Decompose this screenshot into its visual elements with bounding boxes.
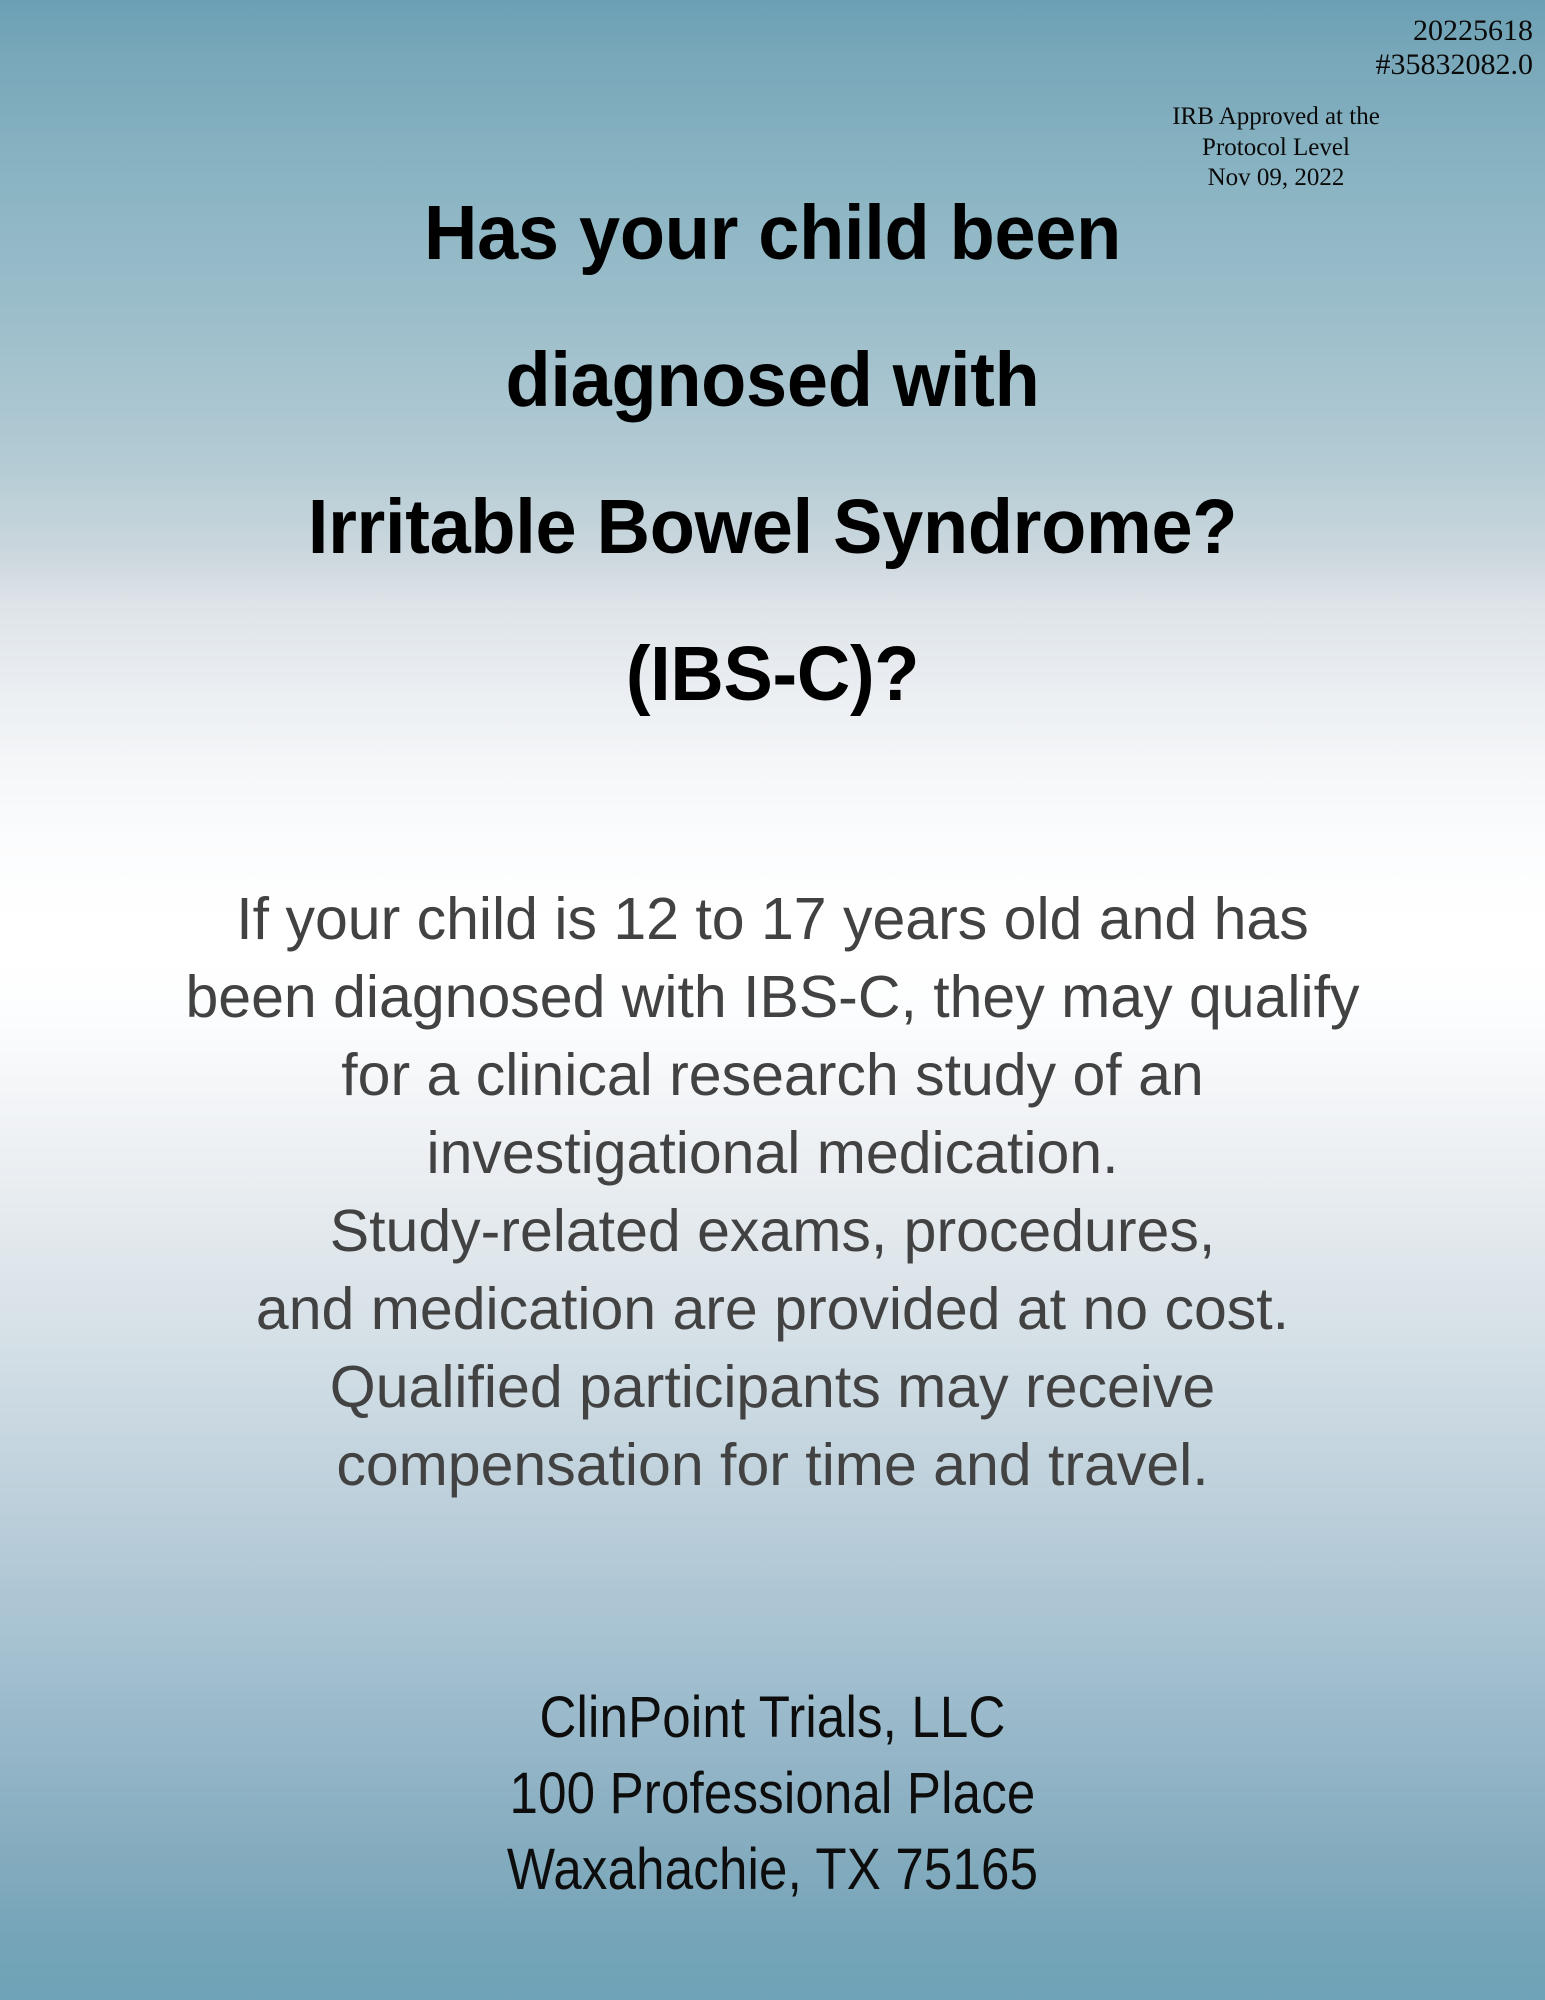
body-line-2: been diagnosed with IBS-C, they may qual… <box>0 958 1545 1036</box>
irb-approval-line-2: Protocol Level <box>1075 133 1477 164</box>
headline-line-1: Has your child been <box>31 160 1514 307</box>
body-copy: If your child is 12 to 17 years old and … <box>0 880 1545 1504</box>
headline-line-3: Irritable Bowel Syndrome? <box>31 454 1514 601</box>
headline: Has your child been diagnosed with Irrit… <box>0 160 1545 748</box>
contact-street-address: 100 Professional Place <box>93 1756 1453 1832</box>
body-line-7: Qualified participants may receive <box>0 1348 1545 1426</box>
body-line-3: for a clinical research study of an <box>0 1036 1545 1114</box>
body-line-6: and medication are provided at no cost. <box>0 1270 1545 1348</box>
body-line-8: compensation for time and travel. <box>0 1426 1545 1504</box>
body-line-4: investigational medication. <box>0 1114 1545 1192</box>
headline-line-4: (IBS-C)? <box>31 601 1514 748</box>
contact-organization: ClinPoint Trials, LLC <box>93 1680 1453 1756</box>
body-line-1: If your child is 12 to 17 years old and … <box>0 880 1545 958</box>
flyer-page: 20225618 #35832082.0 IRB Approved at the… <box>0 0 1545 2000</box>
contact-block: ClinPoint Trials, LLC 100 Professional P… <box>0 1680 1545 1908</box>
contact-city-state-zip: Waxahachie, TX 75165 <box>93 1832 1453 1908</box>
irb-approval-line-1: IRB Approved at the <box>1075 102 1477 133</box>
irb-protocol-number: 20225618 <box>1075 14 1533 48</box>
irb-document-number: #35832082.0 <box>1075 48 1533 82</box>
body-line-5: Study-related exams, procedures, <box>0 1192 1545 1270</box>
headline-line-2: diagnosed with <box>31 307 1514 454</box>
